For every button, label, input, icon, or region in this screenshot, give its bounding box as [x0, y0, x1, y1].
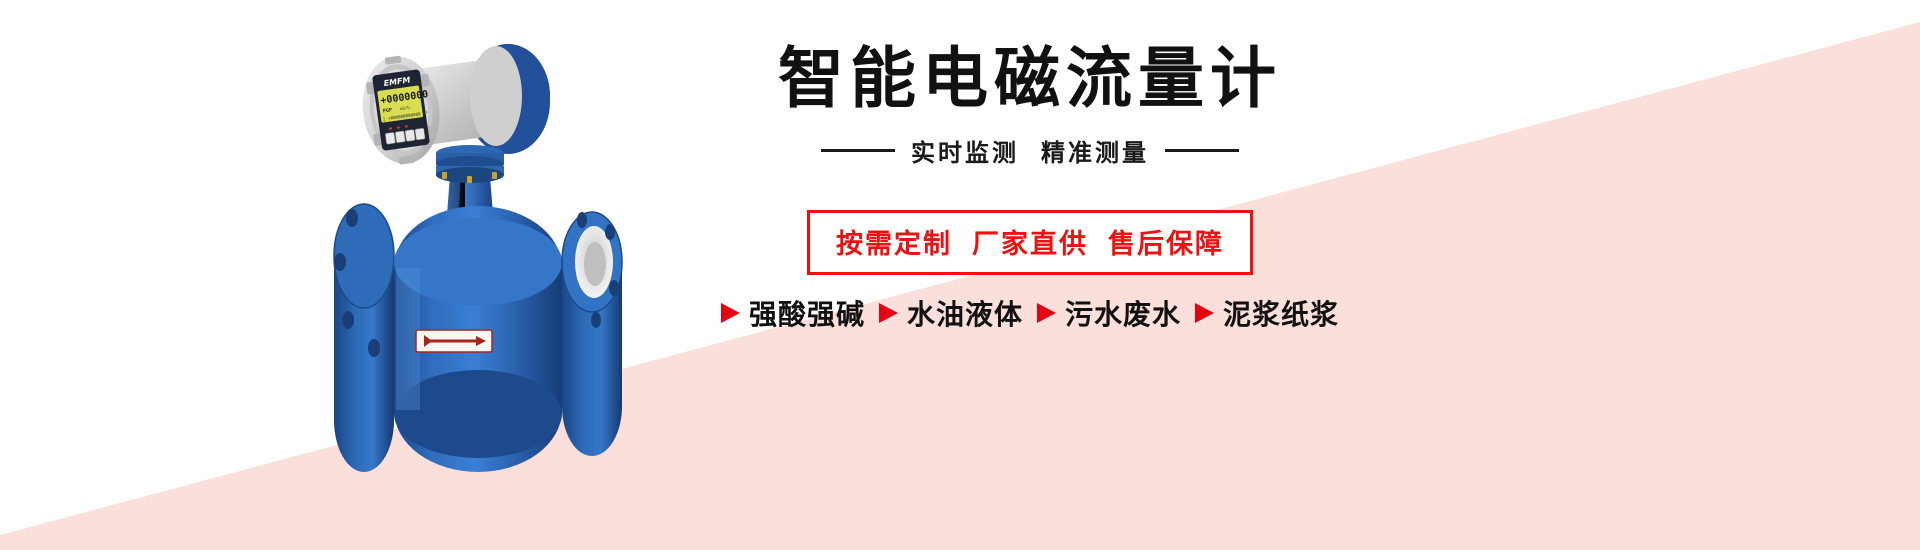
- subtitle-left: 实时监测: [911, 139, 1019, 167]
- lcd-unit-label: PGP: [383, 107, 393, 114]
- feature-label: 污水废水: [1065, 293, 1181, 333]
- feature-label: 强酸强碱: [749, 293, 865, 333]
- triangle-right-icon: [879, 303, 898, 323]
- promo-text: 按需定制厂家直供售后保障: [836, 229, 1224, 260]
- feature-item: 强酸强碱: [721, 293, 865, 333]
- feature-list: 强酸强碱 水油液体 污水废水 泥浆纸浆: [721, 293, 1339, 333]
- product-banner: EMFM KK9300 +0000000 PGP m3/h ∑ +0000000…: [0, 0, 1920, 550]
- rule-left: [821, 149, 895, 152]
- triangle-right-icon: [721, 303, 740, 323]
- copy-column: 智能电磁流量计 实时监测精准测量 按需定制厂家直供售后保障 强酸强碱 水油液体: [640, 0, 1420, 550]
- subtitle-right: 精准测量: [1041, 139, 1149, 167]
- promo-badge: 按需定制厂家直供售后保障: [807, 210, 1253, 275]
- rule-right: [1165, 149, 1239, 152]
- triangle-right-icon: [1037, 303, 1056, 323]
- flowmeter-illustration: EMFM KK9300 +0000000 PGP m3/h ∑ +0000000…: [300, 0, 660, 470]
- feature-item: 水油液体: [879, 293, 1023, 333]
- feature-label: 泥浆纸浆: [1223, 293, 1339, 333]
- promo-item-2: 厂家直供: [972, 229, 1088, 260]
- promo-item-3: 售后保障: [1108, 229, 1224, 260]
- left-flange: [334, 204, 394, 472]
- feature-item: 污水废水: [1037, 293, 1181, 333]
- flow-direction-label: [416, 330, 492, 352]
- triangle-right-icon: [1195, 303, 1214, 323]
- feature-label: 水油液体: [907, 293, 1023, 333]
- right-flange: [562, 212, 622, 456]
- promo-item-1: 按需定制: [836, 229, 952, 260]
- feature-item: 泥浆纸浆: [1195, 293, 1339, 333]
- subtitle-text: 实时监测精准测量: [911, 133, 1149, 168]
- subtitle-row: 实时监测精准测量: [640, 133, 1420, 168]
- meter-body: [334, 204, 622, 472]
- page-title: 智能电磁流量计: [640, 40, 1420, 118]
